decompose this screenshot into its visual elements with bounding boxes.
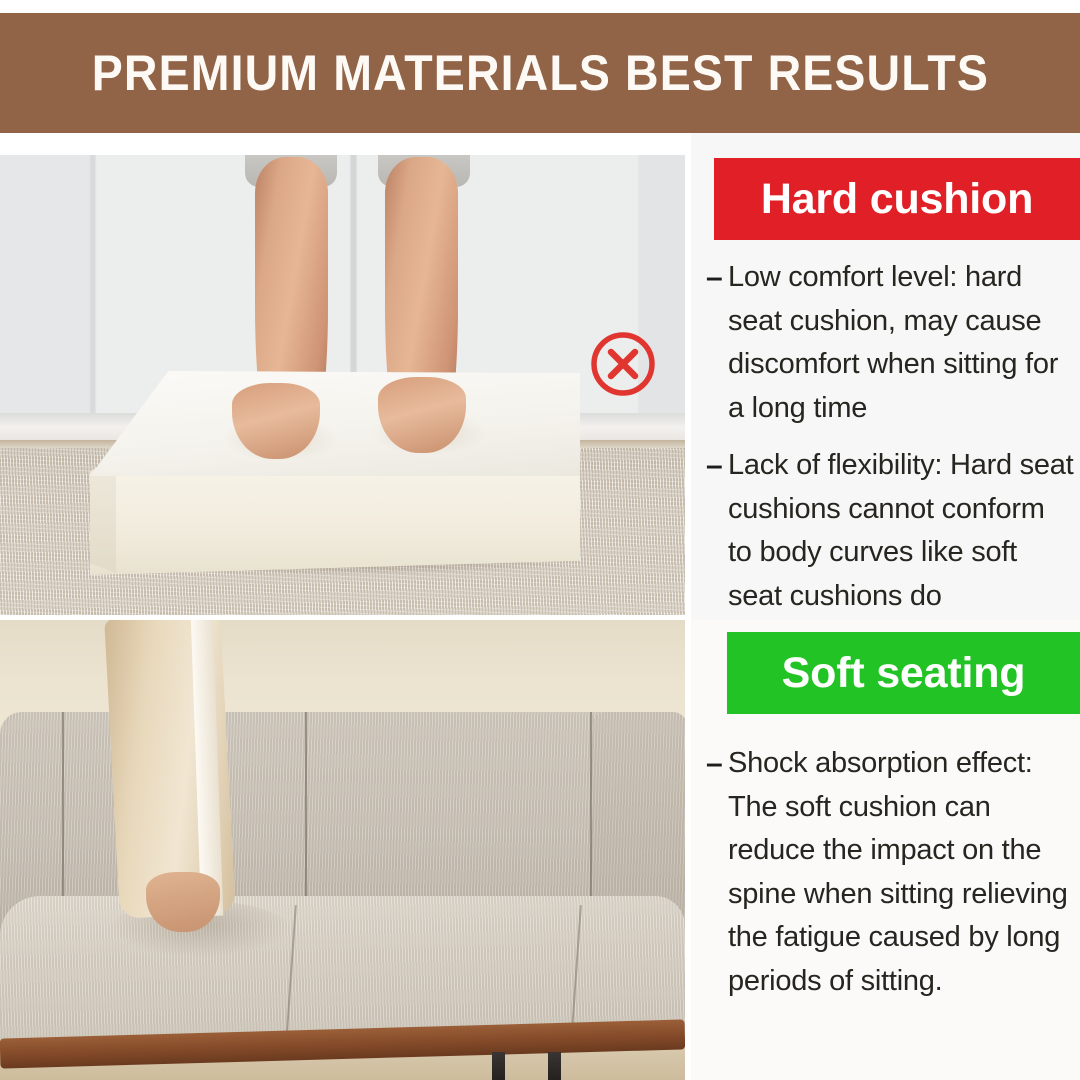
soft-seating-photo bbox=[0, 620, 685, 1080]
list-item: – Low comfort level: hard seat cushion, … bbox=[702, 256, 1074, 430]
soft-seating-bullet-list: – Shock absorption effect: The soft cush… bbox=[702, 742, 1074, 1017]
cross-circle-icon bbox=[589, 330, 657, 398]
foam-top-face bbox=[90, 371, 580, 476]
hard-cushion-label-text: Hard cushion bbox=[761, 175, 1033, 224]
list-item-text: Shock absorption effect: The soft cushio… bbox=[728, 742, 1074, 1003]
hard-cushion-bullet-list: – Low comfort level: hard seat cushion, … bbox=[702, 256, 1074, 632]
product-comparison-infographic: PREMIUM MATERIALS BEST RESULTS bbox=[0, 0, 1080, 1080]
list-item-text: Low comfort level: hard seat cushion, ma… bbox=[728, 256, 1074, 430]
soft-seating-label: Soft seating bbox=[727, 632, 1080, 714]
bullet-dash-icon: – bbox=[702, 256, 728, 300]
hard-cushion-label: Hard cushion bbox=[714, 158, 1080, 240]
page-title: PREMIUM MATERIALS BEST RESULTS bbox=[91, 44, 988, 102]
list-item: – Lack of flexibility: Hard seat cushion… bbox=[702, 444, 1074, 618]
list-item-text: Lack of flexibility: Hard seat cushions … bbox=[728, 444, 1074, 618]
bullet-dash-icon: – bbox=[702, 742, 728, 786]
header-banner: PREMIUM MATERIALS BEST RESULTS bbox=[0, 13, 1080, 133]
list-item: – Shock absorption effect: The soft cush… bbox=[702, 742, 1074, 1003]
soft-seating-label-text: Soft seating bbox=[782, 649, 1026, 698]
bullet-dash-icon: – bbox=[702, 444, 728, 488]
hard-cushion-photo bbox=[0, 155, 685, 615]
sofa-leg bbox=[492, 1052, 505, 1080]
foam-front-face bbox=[90, 473, 580, 575]
foam-block bbox=[0, 155, 685, 615]
column-gutter bbox=[685, 133, 691, 1080]
sofa-leg bbox=[548, 1052, 561, 1080]
back-pillow bbox=[592, 712, 685, 924]
